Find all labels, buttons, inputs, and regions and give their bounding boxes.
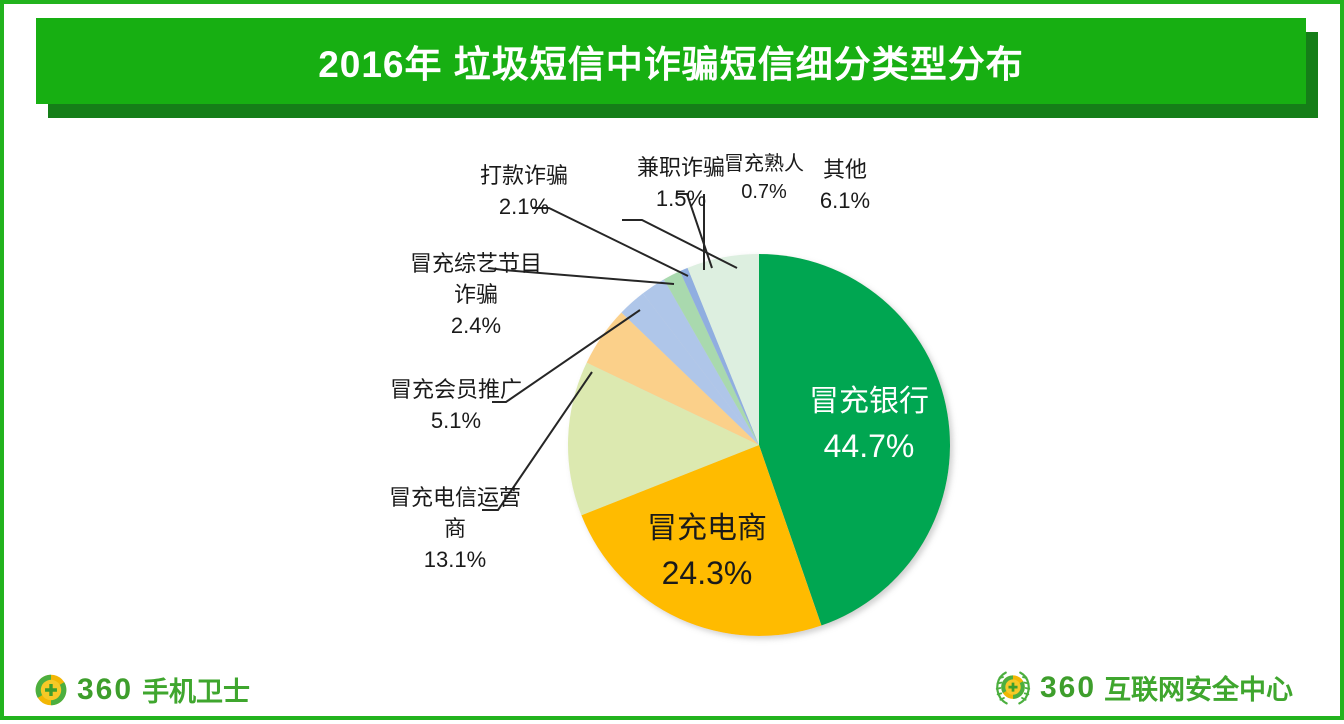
callout-label-hui-yuan: 冒充会员推广: [367, 374, 545, 405]
callout-label-qi-ta: 其他: [799, 154, 891, 185]
callout-label-zong-yi-line2: 诈骗: [386, 279, 566, 310]
360-laurel-wreath-icon: [992, 669, 1034, 707]
slice-label-value-ecom: 24.3%: [612, 551, 802, 595]
callout-mao-chong-zong-yi-jie-mu-zha-pian: 冒充综艺节目 诈骗 2.4%: [386, 248, 566, 341]
slice-label-name-bank: 冒充银行: [774, 380, 964, 424]
callout-qi-ta: 其他 6.1%: [799, 154, 891, 216]
callout-label-da-kuan: 打款诈骗: [444, 160, 604, 191]
logo-left-text: 手机卫士: [142, 670, 250, 709]
logo-left-number: 360: [77, 673, 133, 707]
slice-label-mao-chong-yin-hang: 冒充银行 44.7%: [774, 380, 964, 468]
callout-label-dian-xin-line2: 商: [364, 513, 546, 544]
callout-label-dian-xin-line1: 冒充电信运营: [364, 482, 546, 513]
logo-right-number: 360: [1040, 671, 1096, 705]
footer: 360 手机卫士 360 互联网安全中心: [4, 662, 1344, 724]
callout-value-da-kuan: 2.1%: [444, 191, 604, 222]
slide-canvas: 2016年 垃圾短信中诈骗短信细分类型分布: [0, 0, 1344, 720]
page-title: 2016年 垃圾短信中诈骗短信细分类型分布: [36, 18, 1306, 104]
callout-mao-chong-hui-yuan-tui-guang: 冒充会员推广 5.1%: [367, 374, 545, 436]
logo-360-mobile-guard: 360 手机卫士: [34, 670, 250, 709]
slice-label-name-ecom: 冒充电商: [612, 507, 802, 551]
callout-value-qi-ta: 6.1%: [799, 185, 891, 216]
callout-mao-chong-dian-xin-yun-ying-shang: 冒充电信运营 商 13.1%: [364, 482, 546, 575]
slice-label-mao-chong-dian-shang: 冒充电商 24.3%: [612, 507, 802, 595]
callout-value-dian-xin: 13.1%: [364, 544, 546, 575]
callout-da-kuan-zha-pian: 打款诈骗 2.1%: [444, 160, 604, 222]
callout-label-zong-yi-line1: 冒充综艺节目: [386, 248, 566, 279]
callout-value-zong-yi: 2.4%: [386, 310, 566, 341]
callout-value-hui-yuan: 5.1%: [367, 405, 545, 436]
pie-chart: 打款诈骗 2.1% 兼职诈骗 1.5% 冒充熟人 0.7% 其他 6.1% 冒充…: [4, 122, 1344, 662]
slice-label-value-bank: 44.7%: [774, 424, 964, 468]
360-shield-icon: [34, 673, 68, 707]
logo-right-text: 互联网安全中心: [1104, 668, 1293, 707]
logo-360-internet-security-center: 360 互联网安全中心: [992, 668, 1293, 707]
title-banner: 2016年 垃圾短信中诈骗短信细分类型分布: [36, 18, 1318, 118]
